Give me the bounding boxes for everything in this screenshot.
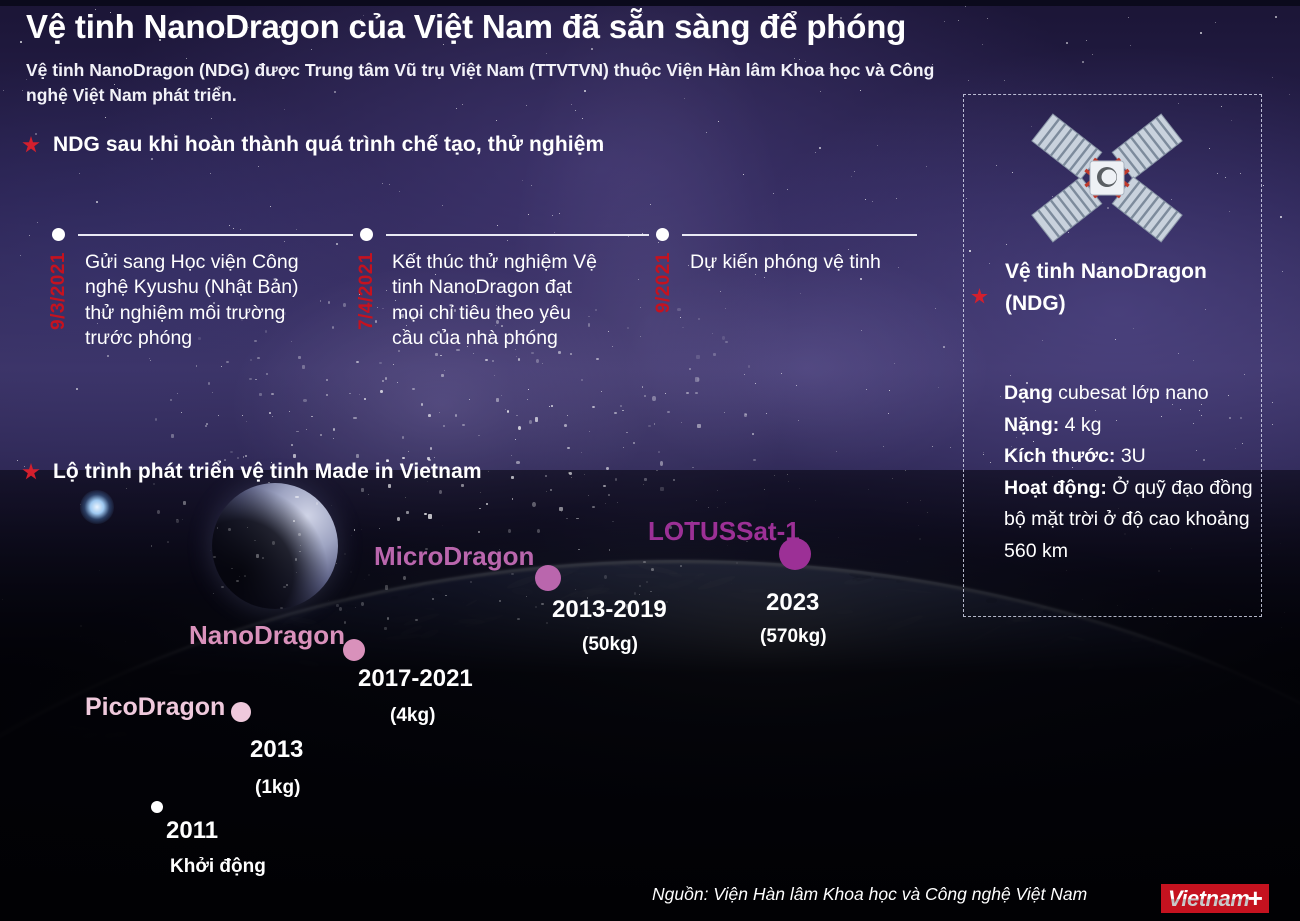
timeline-dot [52,228,65,241]
roadmap-point-dot [535,565,561,591]
roadmap-mass: (4kg) [390,705,435,727]
panel-title: Vệ tinh NanoDragon (NDG) [1005,256,1255,320]
timeline-text: Dự kiến phóng vệ tinh [690,250,905,275]
top-strip [0,0,1300,6]
timeline-text: Kết thúc thử nghiệm Vệ tinh NanoDragon đ… [392,250,607,351]
roadmap-satellite-name: NanoDragon [189,620,345,651]
roadmap-point-dot [779,538,811,570]
panel-spec-label: Kích thước: [1004,445,1115,467]
panel-spec-item: Kích thước: 3U [1004,441,1256,473]
timeline-heading-label: NDG sau khi hoàn thành quá trình chế tạo… [53,133,604,157]
timeline-dot [656,228,669,241]
roadmap-satellite-name: PicoDragon [85,693,225,722]
timeline-text: Gửi sang Học viện Công nghệ Kyushu (Nhật… [85,250,300,351]
timeline-connector [78,234,353,236]
roadmap-point-dot [343,639,365,661]
infographic-page: Vệ tinh NanoDragon của Việt Nam đã sẵn s… [0,0,1300,921]
timeline-connector [682,234,917,236]
panel-spec-value: cubesat lớp nano [1053,382,1209,404]
roadmap-year: 2013 [250,736,303,764]
roadmap-mass: (570kg) [760,626,827,648]
page-title: Vệ tinh NanoDragon của Việt Nam đã sẵn s… [26,9,1006,46]
timeline-dot [360,228,373,241]
roadmap-satellite-name: LOTUSSat-1 [648,516,800,547]
timeline-date: 7/4/2021 [356,252,378,330]
panel-spec-label: Dạng [1004,382,1053,404]
section-heading-timeline: NDG sau khi hoàn thành quá trình chế tạo… [22,133,604,157]
panel-spec-value: 3U [1115,445,1145,467]
timeline-connector [386,234,649,236]
panel-spec-item: Hoạt động: Ở quỹ đạo đồng bộ mặt trời ở … [1004,473,1256,568]
bright-star-glow [80,490,114,524]
roadmap-year: 2017-2021 [358,665,473,693]
source-credit: Nguồn: Viện Hàn lâm Khoa học và Công ngh… [652,884,1087,905]
roadmap-heading-label: Lộ trình phát triển vệ tinh Made in Viet… [53,460,482,484]
timeline-date: 9/3/2021 [48,252,70,330]
roadmap-point-dot [151,801,163,813]
roadmap-year: 2023 [766,589,819,617]
satellite-icon [1022,108,1192,248]
roadmap-year: 2011 [166,817,218,845]
panel-spec-label: Hoạt động: [1004,477,1107,499]
roadmap-mass: (50kg) [582,634,638,656]
roadmap-point-dot [231,702,251,722]
vietnamplus-logo[interactable]: Vietnam + [1161,884,1269,913]
moon [212,483,338,609]
roadmap-year: 2013-2019 [552,596,667,624]
panel-spec-label: Nặng: [1004,414,1059,436]
panel-spec-value: 4 kg [1059,414,1101,436]
logo-plus-icon: + [1247,883,1262,914]
logo-wordmark: Vietnam [1168,886,1249,912]
section-heading-roadmap: Lộ trình phát triển vệ tinh Made in Viet… [22,460,482,484]
roadmap-mass: (1kg) [255,777,300,799]
roadmap-satellite-name: MicroDragon [374,541,534,572]
panel-spec-item: Dạng cubesat lớp nano [1004,378,1256,410]
star-bullet-icon [22,136,40,154]
panel-spec-item: Nặng: 4 kg [1004,410,1256,442]
page-subtitle: Vệ tinh NanoDragon (NDG) được Trung tâm … [26,58,956,108]
star-bullet-icon [22,463,40,481]
panel-spec-list: Dạng cubesat lớp nanoNặng: 4 kgKích thướ… [1004,378,1256,567]
timeline-date: 9/2021 [653,252,675,313]
roadmap-note: Khởi động [170,856,266,878]
